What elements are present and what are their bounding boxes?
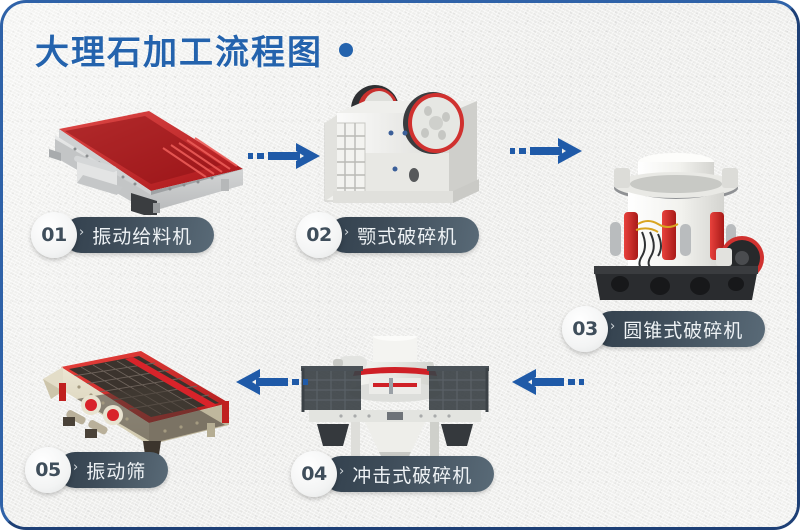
vibrating-feeder-icon [31,95,261,215]
stage-label-text-03: 圆锥式破碎机 [623,316,743,343]
stage-label-text-04: 冲击式破碎机 [352,461,472,488]
chevron-right-icon: › [79,226,85,239]
chevron-right-icon: › [339,465,345,478]
chevron-right-icon: › [344,226,350,239]
stage-badge-04: 04 [291,451,337,497]
poster-title-row: 大理石加工流程图 [35,25,353,74]
arrow-03-to-04 [508,365,586,399]
flow-diagram-poster: 大理石加工流程图 [0,0,800,530]
stage-label-text-02: 颚式破碎机 [357,222,457,249]
page-title: 大理石加工流程图 [35,25,323,74]
stage-03-image [576,148,776,310]
bullet-dot-icon [339,43,353,57]
stage-ribbon-04: › 冲击式破碎机 [323,456,494,492]
stage-badge-03: 03 [562,306,608,352]
stage-badge-05: 05 [25,447,71,493]
chevron-right-icon: › [610,320,616,333]
stage-badge-02: 02 [296,212,342,258]
stage-01-image [31,95,261,215]
impact-crusher-icon [295,336,495,468]
stage-label-03[interactable]: 03 › 圆锥式破碎机 [562,306,765,352]
stage-ribbon-03: › 圆锥式破碎机 [594,311,765,347]
chevron-right-icon: › [73,461,79,474]
stage-label-text-05: 振动筛 [86,457,146,484]
stage-ribbon-05: › 振动筛 [57,452,168,488]
stage-label-01[interactable]: 01 › 振动给料机 [31,212,214,258]
stage-ribbon-02: › 颚式破碎机 [328,217,479,253]
stage-02-image [315,71,490,221]
stage-label-04[interactable]: 04 › 冲击式破碎机 [291,451,494,497]
left-platform [301,366,363,412]
stage-04-image [295,336,495,468]
arrow-04-to-05 [232,365,310,399]
stage-ribbon-01: › 振动给料机 [63,217,214,253]
stage-label-text-01: 振动给料机 [92,222,192,249]
stage-label-05[interactable]: 05 › 振动筛 [25,447,168,493]
jaw-crusher-icon [315,71,490,221]
cone-crusher-icon [576,148,776,310]
arrow-01-to-02 [246,139,324,173]
arrow-02-to-03 [508,134,586,168]
stage-badge-01: 01 [31,212,77,258]
right-platform [427,366,489,412]
stage-label-02[interactable]: 02 › 颚式破碎机 [296,212,479,258]
